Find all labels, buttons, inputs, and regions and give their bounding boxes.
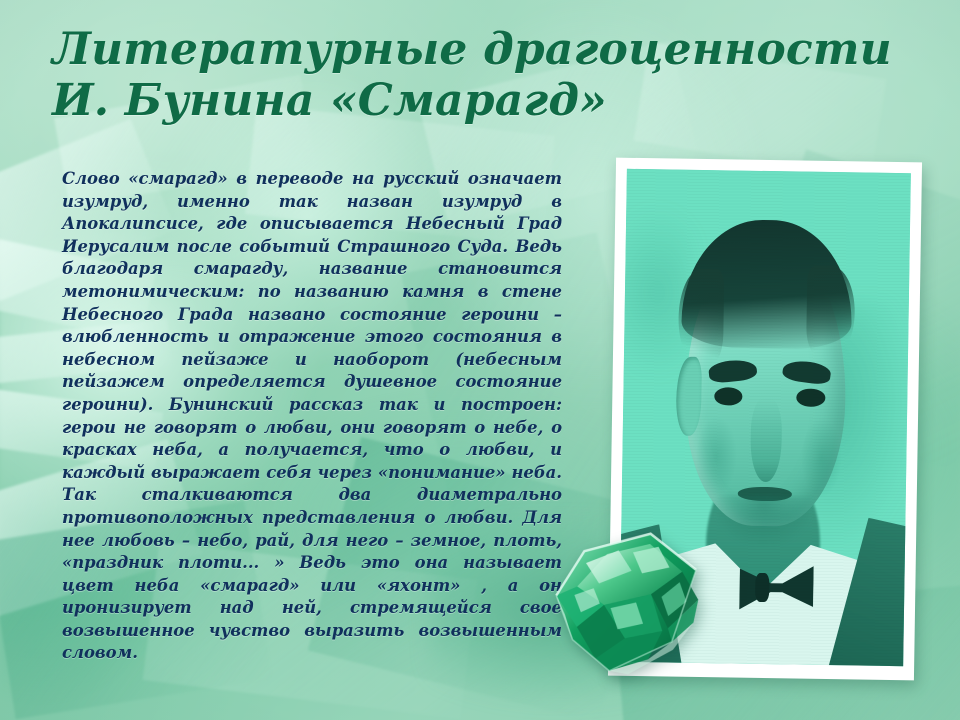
slide-title: Литературные драгоценности И. Бунина «См… [52, 24, 952, 126]
slide-title-line-1: Литературные драгоценности [52, 24, 892, 75]
slide-title-line-2: И. Бунина «Смарагд» [52, 75, 952, 126]
emerald-gem-icon [530, 517, 719, 689]
slide-body-text: Слово «смарагд» в переводе на русский оз… [62, 168, 562, 665]
body-paragraph: Слово «смарагд» в переводе на русский оз… [62, 168, 562, 665]
presentation-slide: Литературные драгоценности И. Бунина «См… [0, 0, 960, 720]
